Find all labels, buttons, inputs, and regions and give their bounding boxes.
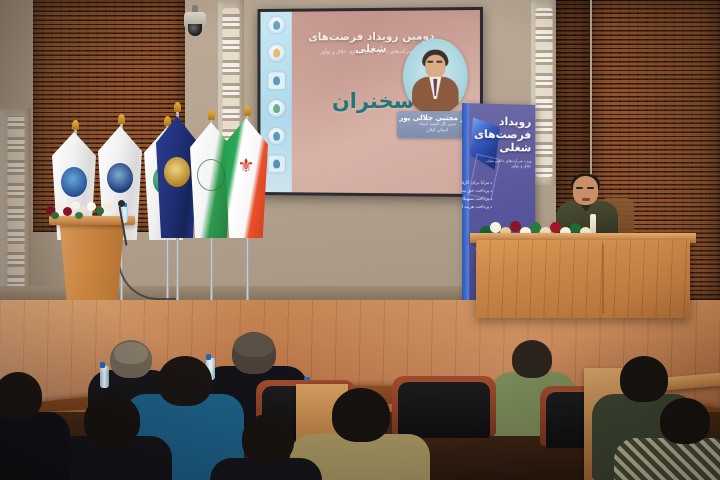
sponsor-logo-icon-5 bbox=[268, 128, 285, 145]
head-table bbox=[476, 240, 690, 318]
bottle-cap-2 bbox=[206, 354, 211, 360]
table-panel-line bbox=[602, 244, 604, 314]
flag-emblem-4 bbox=[164, 157, 190, 187]
portrait-brow-left bbox=[427, 61, 433, 63]
person-head bbox=[332, 388, 390, 442]
person-head bbox=[158, 356, 212, 406]
banner-subtitle: ویژه شرکت‌های دانش بنیان، خلاق و نوآور bbox=[478, 158, 531, 169]
speaker-head bbox=[573, 176, 598, 205]
portrait-oval bbox=[403, 38, 468, 115]
banner-bullet: پرداخت حق بیمه سهم کارفرما bbox=[462, 188, 492, 196]
projection-screen: دومین رویداد فرصت‌های شغلی ویژه شرکت‌های… bbox=[260, 10, 479, 194]
flag-finial-2 bbox=[118, 114, 125, 124]
sponsor-logo-icon-6 bbox=[268, 155, 285, 172]
flag-finial-1 bbox=[72, 120, 79, 130]
dome-camera-icon bbox=[184, 5, 206, 39]
person-head bbox=[84, 394, 140, 446]
portrait-face bbox=[425, 55, 445, 78]
person-body-patterned-sweater bbox=[614, 438, 720, 480]
microphone-icon bbox=[118, 200, 125, 207]
seat-2[interactable] bbox=[398, 382, 490, 438]
conference-hall-photo: دومین رویداد فرصت‌های شغلی ویژه شرکت‌های… bbox=[0, 0, 720, 480]
foliage bbox=[75, 212, 83, 219]
person-head bbox=[0, 372, 42, 420]
flag-finial-3 bbox=[164, 116, 171, 126]
water-bottle-1 bbox=[100, 366, 109, 388]
flower bbox=[87, 202, 96, 211]
flag-emblem-1 bbox=[61, 167, 87, 197]
sponsor-logo-icon-3 bbox=[268, 72, 285, 89]
person-head bbox=[242, 414, 294, 464]
banner-title-line2: فرصت‌های شغلی bbox=[482, 129, 531, 156]
banner-bullet: پرداخت هزینه آموزش نیرو bbox=[462, 203, 492, 211]
person-hair bbox=[234, 333, 274, 357]
banner-title: رویداد فرصت‌های شغلی bbox=[482, 116, 531, 156]
foliage bbox=[96, 207, 104, 215]
speaker-mouth bbox=[582, 198, 590, 201]
flag-emblem-5 bbox=[197, 159, 225, 191]
flower bbox=[104, 203, 113, 212]
person-head bbox=[512, 340, 552, 378]
speaker-brow-right bbox=[587, 187, 594, 189]
slide-content: دومین رویداد فرصت‌های شغلی ویژه شرکت‌های… bbox=[292, 10, 480, 194]
flag-finial-5 bbox=[208, 110, 215, 120]
bottle-cap-1 bbox=[100, 362, 105, 368]
sponsor-logo-icon-2 bbox=[268, 44, 285, 61]
flag-finial-6 bbox=[244, 106, 251, 116]
person-hair bbox=[114, 342, 148, 364]
person-head bbox=[620, 356, 668, 402]
speaker-brow-left bbox=[576, 187, 583, 189]
banner-bullet: مزایا برای کارفرمایان bbox=[462, 180, 492, 188]
table-wood-grain bbox=[476, 240, 690, 318]
flag-emblem-2 bbox=[107, 163, 133, 193]
banner-bullet-list: مزایا برای کارفرمایان پرداخت حق بیمه سهم… bbox=[462, 180, 531, 211]
flower bbox=[63, 207, 72, 216]
person-body bbox=[0, 412, 70, 480]
carving-pattern bbox=[535, 8, 552, 177]
banner-bullet: پرداخت تسهیلات به کارفرما bbox=[462, 196, 492, 204]
iran-emblem-icon: ⚜ bbox=[235, 157, 257, 179]
flower bbox=[55, 202, 63, 210]
foliage bbox=[51, 212, 59, 219]
camera-dome bbox=[188, 24, 202, 36]
flag-finial-4 bbox=[174, 102, 181, 112]
sponsor-logo-icon-4 bbox=[268, 100, 285, 117]
projection-screen-frame: دومین رویداد فرصت‌های شغلی ویژه شرکت‌های… bbox=[258, 7, 483, 197]
podium-flower-arrangement bbox=[44, 198, 122, 220]
sponsor-logo-icon-1 bbox=[268, 17, 285, 34]
portrait-brow-right bbox=[436, 61, 442, 63]
person-head bbox=[660, 398, 710, 444]
